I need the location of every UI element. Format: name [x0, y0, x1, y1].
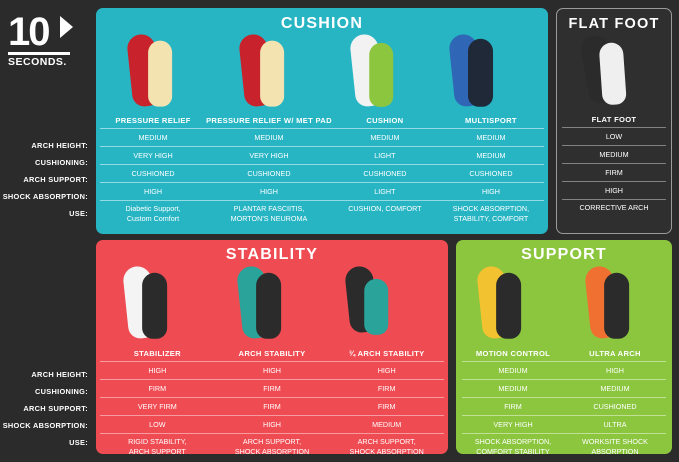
- spec-cell: FIRM: [329, 379, 444, 397]
- product-name: STABILIZER: [100, 346, 215, 361]
- use-line: ARCH SUPPORT,: [329, 437, 444, 447]
- spec-cell: HIGH: [100, 182, 206, 200]
- product-name: ULTRA ARCH: [564, 346, 666, 361]
- cushion-insole-images: [96, 33, 548, 113]
- spec-cell: MEDIUM: [438, 146, 544, 164]
- product-column: ¾ ARCH STABILITYHIGHFIRMFIRMMEDIUMARCH S…: [329, 346, 444, 454]
- triangle-arrow-icon: [60, 16, 73, 38]
- brand-logo: 10 SECONDS.: [8, 14, 86, 88]
- spec-cell: FIRM: [215, 397, 330, 415]
- spec-cell: MEDIUM: [100, 128, 206, 146]
- product-name: PRESSURE RELIEF: [100, 113, 206, 128]
- use-line: CUSHION, COMFORT: [332, 204, 438, 214]
- spec-cell: CUSHIONED: [100, 164, 206, 182]
- spec-cell: LOW: [562, 127, 666, 145]
- use-line: ARCH SUPPORT: [100, 447, 215, 455]
- use-line: RIGID STABILITY,: [100, 437, 215, 447]
- product-name: CUSHION: [332, 113, 438, 128]
- spec-cell: MEDIUM: [438, 128, 544, 146]
- spec-cell: HIGH: [438, 182, 544, 200]
- product-column: ARCH STABILITYHIGHFIRMFIRMHIGHARCH SUPPO…: [215, 346, 330, 454]
- brand-seconds: SECONDS.: [8, 56, 86, 68]
- row-label-shock-absorption-2: SHOCK ABSORPTION:: [0, 417, 88, 434]
- use-line: STABILITY, COMFORT: [438, 214, 544, 224]
- spec-cell: MEDIUM: [564, 379, 666, 397]
- use-cell: SHOCK ABSORPTION,STABILITY, COMFORT: [438, 200, 544, 231]
- spec-cell: MEDIUM: [562, 145, 666, 163]
- spec-cell: VERY HIGH: [100, 146, 206, 164]
- spec-cell: HIGH: [206, 182, 332, 200]
- use-cell: PLANTAR FASCIITIS,MORTON'S NEUROMA: [206, 200, 332, 231]
- row-label-use-2: USE:: [0, 434, 88, 451]
- product-name: ¾ ARCH STABILITY: [329, 346, 444, 361]
- panel-stability-title: STABILITY: [96, 240, 448, 264]
- use-cell: CORRECTIVE ARCH: [562, 199, 666, 230]
- support-insole-images: [456, 264, 672, 346]
- use-cell: ARCH SUPPORT,SHOCK ABSORPTION: [329, 433, 444, 454]
- panel-cushion: CUSHION PRESSURE RELIEFMEDIUMVERY HIGHCU…: [96, 8, 548, 234]
- use-line: ABSORPTION: [564, 447, 666, 455]
- product-column: PRESSURE RELIEF W/ MET PADMEDIUMVERY HIG…: [206, 113, 332, 231]
- flat-foot-insole-images: [557, 32, 671, 112]
- spec-cell: VERY HIGH: [462, 415, 564, 433]
- use-cell: Diabetic Support,Custom Comfort: [100, 200, 206, 231]
- panel-support-title: SUPPORT: [456, 240, 672, 264]
- product-column: ULTRA ARCHHIGHMEDIUMCUSHIONEDULTRAWORKSI…: [564, 346, 666, 454]
- stability-insole-images: [96, 264, 448, 346]
- use-line: SHOCK ABSORPTION,: [462, 437, 564, 447]
- product-name: PRESSURE RELIEF W/ MET PAD: [206, 113, 332, 128]
- spec-cell: LOW: [100, 415, 215, 433]
- spec-cell: MEDIUM: [206, 128, 332, 146]
- spec-cell: HIGH: [562, 181, 666, 199]
- spec-cell: FIRM: [462, 397, 564, 415]
- row-labels-bottom: ARCH HEIGHT: CUSHIONING: ARCH SUPPORT: S…: [0, 366, 88, 451]
- use-line: Custom Comfort: [100, 214, 206, 224]
- panel-stability: STABILITY STABILIZERHIGHFIRMVERY FIRMLOW…: [96, 240, 448, 454]
- product-column: FLAT FOOTLOWMEDIUMFIRMHIGHCORRECTIVE ARC…: [562, 112, 666, 230]
- use-line: SHOCK ABSORPTION: [215, 447, 330, 455]
- product-column: STABILIZERHIGHFIRMVERY FIRMLOWRIGID STAB…: [100, 346, 215, 454]
- spec-cell: VERY HIGH: [206, 146, 332, 164]
- spec-cell: MEDIUM: [462, 361, 564, 379]
- spec-cell: ULTRA: [564, 415, 666, 433]
- spec-cell: FIRM: [329, 397, 444, 415]
- spec-cell: HIGH: [329, 361, 444, 379]
- use-line: WORKSITE SHOCK: [564, 437, 666, 447]
- use-line: COMFORT STABILITY: [462, 447, 564, 455]
- product-name: MOTION CONTROL: [462, 346, 564, 361]
- panel-support: SUPPORT MOTION CONTROLMEDIUMMEDIUMFIRMVE…: [456, 240, 672, 454]
- spec-cell: CUSHIONED: [206, 164, 332, 182]
- spec-cell: FIRM: [100, 379, 215, 397]
- brand-ten: 10: [8, 14, 86, 50]
- spec-cell: FIRM: [215, 379, 330, 397]
- spec-cell: HIGH: [215, 361, 330, 379]
- use-line: ARCH SUPPORT,: [215, 437, 330, 447]
- row-label-arch-support: ARCH SUPPORT:: [0, 171, 88, 188]
- use-line: PLANTAR FASCIITIS,: [206, 204, 332, 214]
- row-label-cushioning: CUSHIONING:: [0, 154, 88, 171]
- use-cell: SHOCK ABSORPTION,COMFORT STABILITY: [462, 433, 564, 454]
- spec-cell: MEDIUM: [462, 379, 564, 397]
- use-line: SHOCK ABSORPTION,: [438, 204, 544, 214]
- spec-cell: MEDIUM: [329, 415, 444, 433]
- use-cell: CUSHION, COMFORT: [332, 200, 438, 231]
- use-line: CORRECTIVE ARCH: [562, 203, 666, 213]
- row-label-shock-absorption: SHOCK ABSORPTION:: [0, 188, 88, 205]
- product-name: FLAT FOOT: [562, 112, 666, 127]
- spec-cell: VERY FIRM: [100, 397, 215, 415]
- insole-comparison-chart: 10 SECONDS. ARCH HEIGHT: CUSHIONING: ARC…: [0, 0, 679, 462]
- spec-cell: MEDIUM: [332, 128, 438, 146]
- use-line: SHOCK ABSORPTION: [329, 447, 444, 455]
- panel-cushion-title: CUSHION: [96, 8, 548, 33]
- row-label-arch-height: ARCH HEIGHT:: [0, 137, 88, 154]
- product-name: MULTISPORT: [438, 113, 544, 128]
- spec-cell: HIGH: [564, 361, 666, 379]
- row-labels-top: ARCH HEIGHT: CUSHIONING: ARCH SUPPORT: S…: [0, 137, 88, 222]
- row-label-cushioning-2: CUSHIONING:: [0, 383, 88, 400]
- product-column: MULTISPORTMEDIUMMEDIUMCUSHIONEDHIGHSHOCK…: [438, 113, 544, 231]
- panel-flat-foot: FLAT FOOT FLAT FOOTLOWMEDIUMFIRMHIGHCORR…: [556, 8, 672, 234]
- product-name: ARCH STABILITY: [215, 346, 330, 361]
- spec-cell: FIRM: [562, 163, 666, 181]
- spec-cell: HIGH: [100, 361, 215, 379]
- product-column: MOTION CONTROLMEDIUMMEDIUMFIRMVERY HIGHS…: [462, 346, 564, 454]
- use-cell: RIGID STABILITY,ARCH SUPPORT: [100, 433, 215, 454]
- use-line: Diabetic Support,: [100, 204, 206, 214]
- spec-cell: CUSHIONED: [332, 164, 438, 182]
- spec-cell: LIGHT: [332, 182, 438, 200]
- row-label-arch-height-2: ARCH HEIGHT:: [0, 366, 88, 383]
- spec-cell: CUSHIONED: [564, 397, 666, 415]
- spec-cell: LIGHT: [332, 146, 438, 164]
- row-label-use: USE:: [0, 205, 88, 222]
- use-cell: ARCH SUPPORT,SHOCK ABSORPTION: [215, 433, 330, 454]
- product-column: PRESSURE RELIEFMEDIUMVERY HIGHCUSHIONEDH…: [100, 113, 206, 231]
- use-line: MORTON'S NEUROMA: [206, 214, 332, 224]
- panel-flat-foot-title: FLAT FOOT: [557, 9, 671, 32]
- spec-cell: HIGH: [215, 415, 330, 433]
- row-label-arch-support-2: ARCH SUPPORT:: [0, 400, 88, 417]
- use-cell: WORKSITE SHOCKABSORPTION: [564, 433, 666, 454]
- product-column: CUSHIONMEDIUMLIGHTCUSHIONEDLIGHTCUSHION,…: [332, 113, 438, 231]
- spec-cell: CUSHIONED: [438, 164, 544, 182]
